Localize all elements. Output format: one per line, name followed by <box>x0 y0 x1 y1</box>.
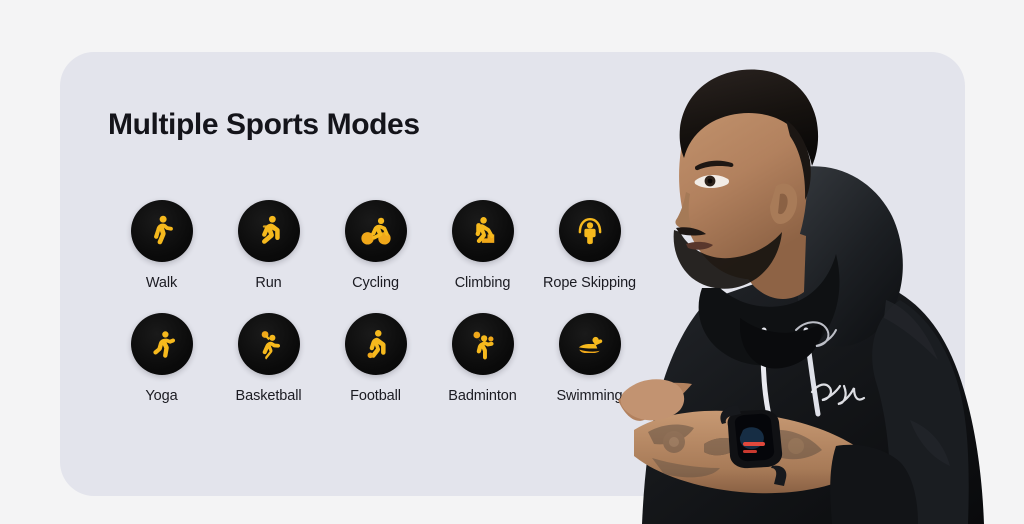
running-figure-icon <box>251 213 287 249</box>
sports-mode-swimming[interactable]: Swimming <box>536 313 643 404</box>
rope-skipping-icon-badge <box>559 200 621 262</box>
sports-mode-run[interactable]: Run <box>215 200 322 291</box>
climbing-icon-badge <box>452 200 514 262</box>
page-title: Multiple Sports Modes <box>108 108 420 142</box>
walking-figure-icon <box>144 213 180 249</box>
sports-mode-football[interactable]: Football <box>322 313 429 404</box>
sports-mode-label: Rope Skipping <box>543 275 636 291</box>
sports-modes-grid: Walk Run <box>108 200 648 426</box>
yoga-pose-icon <box>144 326 180 362</box>
sports-mode-rope-skipping[interactable]: Rope Skipping <box>536 200 643 291</box>
sports-mode-row: Yoga Basketball <box>108 313 648 404</box>
yoga-icon-badge <box>131 313 193 375</box>
sports-mode-walk[interactable]: Walk <box>108 200 215 291</box>
hiker-stairs-icon <box>465 213 501 249</box>
promo-banner: Multiple Sports Modes Walk <box>0 0 1024 524</box>
basketball-icon-badge <box>238 313 300 375</box>
basketball-player-icon <box>251 326 287 362</box>
walk-icon-badge <box>131 200 193 262</box>
sports-mode-label: Run <box>255 275 281 291</box>
sports-mode-label: Football <box>350 388 401 404</box>
run-icon-badge <box>238 200 300 262</box>
sports-mode-row: Walk Run <box>108 200 648 291</box>
cycling-icon-badge <box>345 200 407 262</box>
sports-mode-climbing[interactable]: Climbing <box>429 200 536 291</box>
sports-mode-label: Badminton <box>448 388 516 404</box>
cyclist-icon <box>358 213 394 249</box>
sports-mode-label: Climbing <box>455 275 511 291</box>
sports-mode-yoga[interactable]: Yoga <box>108 313 215 404</box>
football-icon-badge <box>345 313 407 375</box>
sports-mode-label: Yoga <box>145 388 177 404</box>
sports-mode-cycling[interactable]: Cycling <box>322 200 429 291</box>
swimming-icon-badge <box>559 313 621 375</box>
swimmer-icon <box>572 326 608 362</box>
sports-mode-basketball[interactable]: Basketball <box>215 313 322 404</box>
badminton-icon-badge <box>452 313 514 375</box>
sports-mode-badminton[interactable]: Badminton <box>429 313 536 404</box>
jump-rope-figure-icon <box>572 213 608 249</box>
sports-mode-label: Cycling <box>352 275 399 291</box>
football-player-icon <box>358 326 394 362</box>
sports-mode-label: Walk <box>146 275 177 291</box>
badminton-player-icon <box>465 326 501 362</box>
sports-mode-label: Swimming <box>556 388 622 404</box>
sports-mode-label: Basketball <box>236 388 302 404</box>
